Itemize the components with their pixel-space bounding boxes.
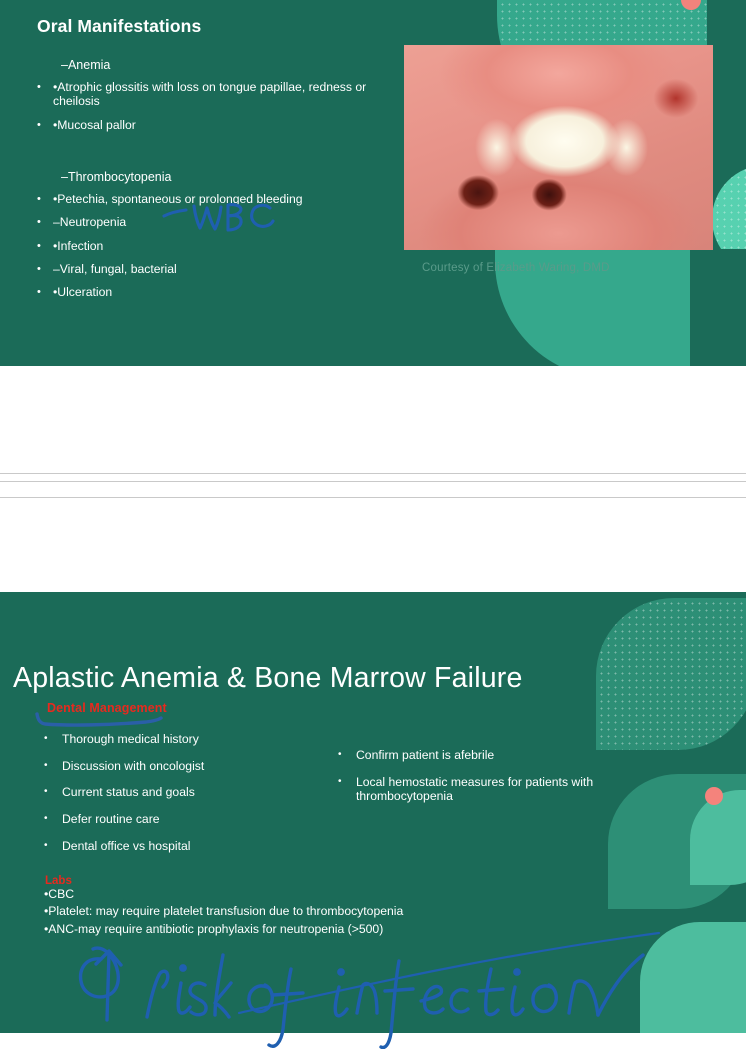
labs-line: •CBC: [44, 886, 564, 903]
bullet-dot-icon: •: [338, 775, 356, 789]
list-item: • •Infection: [37, 239, 387, 253]
list-item-label: •Ulceration: [53, 285, 387, 299]
decorative-pink-circle-top: [681, 0, 701, 10]
list-item: • Current status and goals: [44, 785, 304, 800]
bullet-dot-icon: •: [37, 215, 53, 229]
list-item-label: •Infection: [53, 239, 387, 253]
bullet-dot-icon: •: [44, 759, 62, 773]
page-separator-rule: [0, 481, 746, 482]
list-item: • Thorough medical history: [44, 732, 304, 747]
list-item-label: Defer routine care: [62, 812, 304, 827]
list-item-label: •Mucosal pallor: [53, 118, 387, 132]
handout-page: Oral Manifestations –Anemia • •Atrophic …: [0, 0, 746, 1049]
decorative-teal-leaf-right: [608, 774, 746, 909]
bullet-group-thrombocytopenia: –Thrombocytopenia • •Petechia, spontaneo…: [37, 170, 387, 308]
handwritten-underline-dental-management: [34, 711, 169, 727]
list-item-label: Dental office vs hospital: [62, 839, 304, 854]
subheading-anemia: –Anemia: [61, 58, 387, 72]
list-item: • Local hemostatic measures for patients…: [338, 775, 628, 804]
bullet-group-anemia: –Anemia • •Atrophic glossitis with loss …: [37, 58, 387, 141]
page-separator-rule: [0, 473, 746, 474]
list-item-label: –Viral, fungal, bacterial: [53, 262, 387, 276]
list-item-label: Discussion with oncologist: [62, 759, 304, 774]
bullet-dot-icon: •: [37, 262, 53, 276]
list-item-label: •Petechia, spontaneous or prolonged blee…: [53, 192, 387, 206]
clinical-photo-caption: Courtesy of Elizabeth Waring, DMD: [422, 262, 610, 274]
bullet-dot-icon: •: [37, 285, 53, 299]
dental-management-right-list: • Confirm patient is afebrile • Local he…: [338, 748, 628, 816]
bullet-dot-icon: •: [44, 839, 62, 853]
list-item: • Discussion with oncologist: [44, 759, 304, 774]
list-item: • –Viral, fungal, bacterial: [37, 262, 387, 276]
bullet-dot-icon: •: [44, 732, 62, 746]
slide2-title: Aplastic Anemia & Bone Marrow Failure: [13, 662, 523, 695]
page-separator-rule: [0, 497, 746, 498]
decorative-mint-leaf-right: [712, 165, 746, 273]
list-item: • •Mucosal pallor: [37, 118, 387, 132]
subheading-thrombocytopenia: –Thrombocytopenia: [61, 170, 387, 184]
clinical-photo-image: [404, 45, 713, 250]
list-item: • •Atrophic glossitis with loss on tongu…: [37, 80, 387, 109]
bullet-dot-icon: •: [44, 785, 62, 799]
decorative-mint-leaf-right: [690, 790, 746, 885]
bullet-dot-icon: •: [37, 80, 53, 94]
list-item: • Defer routine care: [44, 812, 304, 827]
decorative-pink-circle-right: [705, 787, 723, 805]
list-item: • Dental office vs hospital: [44, 839, 304, 854]
clinical-photo-pixels: [404, 45, 713, 250]
bullet-dot-icon: •: [37, 118, 53, 132]
bullet-dot-icon: •: [44, 812, 62, 826]
decorative-mint-leaf-bottom-right: [640, 922, 746, 1033]
list-item-label: Thorough medical history: [62, 732, 304, 747]
decorative-dotted-leaf-top-right: [596, 598, 746, 750]
labs-list: •CBC •Platelet: may require platelet tra…: [44, 886, 564, 938]
bullet-dot-icon: •: [37, 192, 53, 206]
list-item: • Confirm patient is afebrile: [338, 748, 628, 763]
list-item-label: Current status and goals: [62, 785, 304, 800]
bullet-dot-icon: •: [37, 239, 53, 253]
list-item-label: Local hemostatic measures for patients w…: [356, 775, 628, 804]
list-item: • •Ulceration: [37, 285, 387, 299]
list-item: • •Petechia, spontaneous or prolonged bl…: [37, 192, 387, 206]
list-item-label: •Atrophic glossitis with loss on tongue …: [53, 80, 387, 109]
slide-aplastic-anemia: Aplastic Anemia & Bone Marrow Failure De…: [0, 592, 746, 1033]
labs-line: •Platelet: may require platelet transfus…: [44, 903, 564, 920]
slide-oral-manifestations: Oral Manifestations –Anemia • •Atrophic …: [0, 0, 746, 366]
dental-management-left-list: • Thorough medical history • Discussion …: [44, 732, 304, 865]
decorative-dark-corner-bottom-right: [690, 249, 746, 366]
slide1-title: Oral Manifestations: [37, 16, 201, 37]
list-item-label: –Neutropenia: [53, 215, 387, 229]
list-item-label: Confirm patient is afebrile: [356, 748, 628, 763]
labs-line: •ANC-may require antibiotic prophylaxis …: [44, 921, 564, 938]
bullet-dot-icon: •: [338, 748, 356, 762]
list-item: • –Neutropenia: [37, 215, 387, 229]
